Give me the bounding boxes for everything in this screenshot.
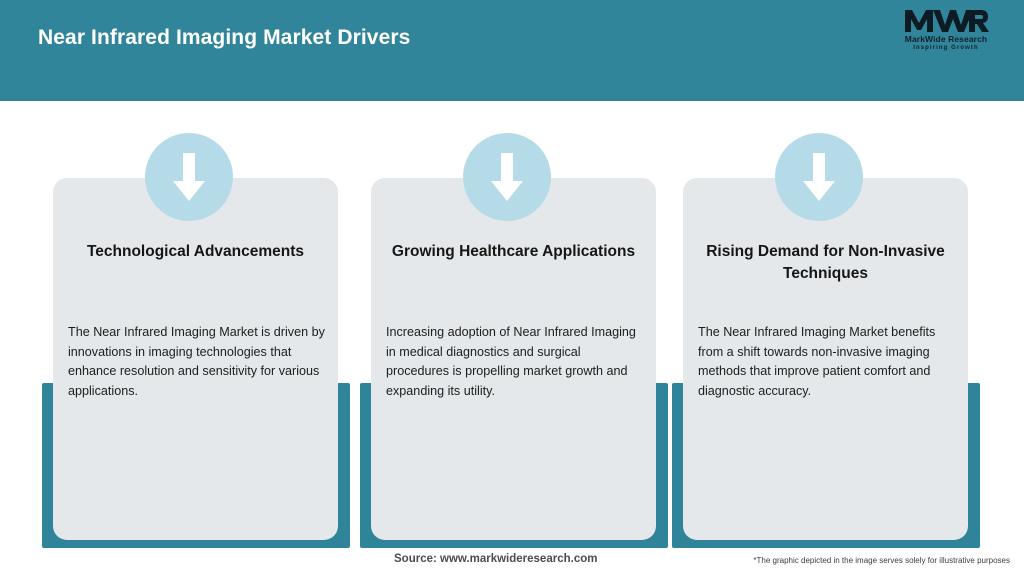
driver-card[interactable]: Growing Healthcare Applications Increasi… (360, 101, 680, 541)
card-title: Technological Advancements (64, 241, 327, 263)
logo-tagline: Inspiring Growth (890, 45, 1002, 51)
mwr-logo-icon (890, 8, 1002, 34)
driver-card[interactable]: Rising Demand for Non-Invasive Technique… (672, 101, 992, 541)
card-description: Increasing adoption of Near Infrared Ima… (386, 323, 646, 401)
card-title: Growing Healthcare Applications (382, 241, 645, 263)
footer-source: Source: www.markwideresearch.com (394, 553, 597, 565)
card-description: The Near Infrared Imaging Market is driv… (68, 323, 328, 401)
down-arrow-icon (775, 133, 863, 221)
header-bar (0, 0, 1024, 101)
logo-company-name: MarkWide Research (890, 35, 1002, 44)
card-title: Rising Demand for Non-Invasive Technique… (694, 241, 957, 285)
page-title: Near Infrared Imaging Market Drivers (38, 26, 410, 50)
card-description: The Near Infrared Imaging Market benefit… (698, 323, 958, 401)
drivers-card-list: Technological Advancements The Near Infr… (0, 101, 1024, 541)
brand-logo: MarkWide Research Inspiring Growth (890, 8, 1002, 58)
down-arrow-icon (145, 133, 233, 221)
footer-disclaimer: *The graphic depicted in the image serve… (753, 556, 1010, 565)
down-arrow-icon (463, 133, 551, 221)
driver-card[interactable]: Technological Advancements The Near Infr… (42, 101, 362, 541)
